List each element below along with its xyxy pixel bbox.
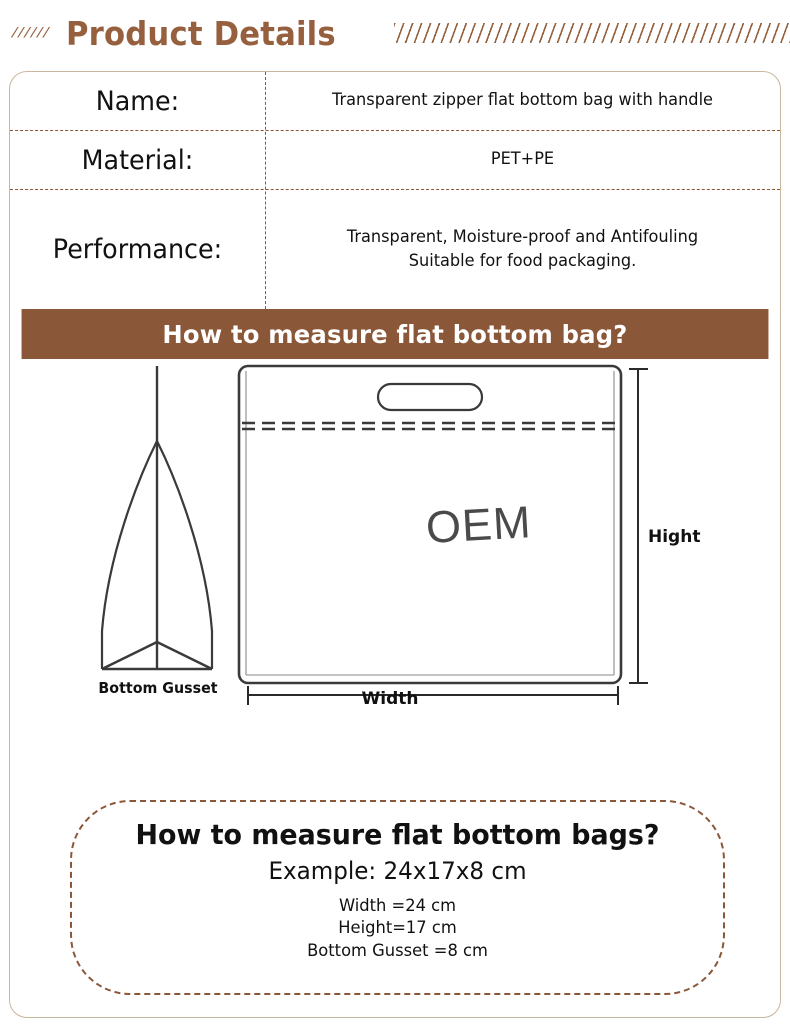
gusset-right-panel <box>157 441 212 669</box>
gusset-fold-right <box>157 642 212 669</box>
spec-value-name: Transparent zipper flat bottom bag with … <box>278 89 767 112</box>
decorative-slashes-right <box>394 23 790 43</box>
gusset-fold-left <box>102 642 157 669</box>
decorative-slashes-left: ////// <box>12 24 50 43</box>
product-details-card: Name: Transparent zipper flat bottom bag… <box>9 71 781 1018</box>
spec-value-material: PET+PE <box>278 148 767 171</box>
width-label: Width <box>330 689 450 709</box>
example-line-width: Width =24 cm <box>85 895 710 917</box>
spec-label-material: Material: <box>18 145 258 176</box>
gusset-side-view <box>102 366 212 669</box>
oem-brand-text: OEM <box>425 496 533 554</box>
example-line-height: Height=17 cm <box>85 917 710 939</box>
table-row: Material: PET+PE <box>10 131 780 190</box>
spec-label-name: Name: <box>18 86 258 117</box>
gusset-left-panel <box>102 441 157 669</box>
spec-table: Name: Transparent zipper flat bottom bag… <box>10 72 780 309</box>
table-row: Name: Transparent zipper flat bottom bag… <box>10 72 780 131</box>
spec-value-performance: Transparent, Moisture-proof and Antifoul… <box>278 226 767 272</box>
measure-example-box: How to measure flat bottom bags? Example… <box>70 800 725 995</box>
example-box-title: How to measure flat bottom bags? <box>85 818 710 851</box>
bottom-gusset-label: Bottom Gusset <box>92 679 225 697</box>
example-box-example: Example: 24x17x8 cm <box>85 857 710 885</box>
table-row: Performance: Transparent, Moisture-proof… <box>10 190 780 309</box>
section-banner: How to measure flat bottom bag? <box>22 309 769 359</box>
height-label: Hight <box>648 527 700 547</box>
example-line-gusset: Bottom Gusset =8 cm <box>85 940 710 962</box>
bag-handle-cutout <box>378 384 482 410</box>
spec-label-performance: Performance: <box>18 234 258 265</box>
height-dimension <box>629 369 648 683</box>
bag-diagram: OEM Bottom Gusset Width Hight <box>10 359 780 757</box>
page-title: Product Details <box>66 14 336 53</box>
page-header: ////// Product Details <box>0 0 790 66</box>
